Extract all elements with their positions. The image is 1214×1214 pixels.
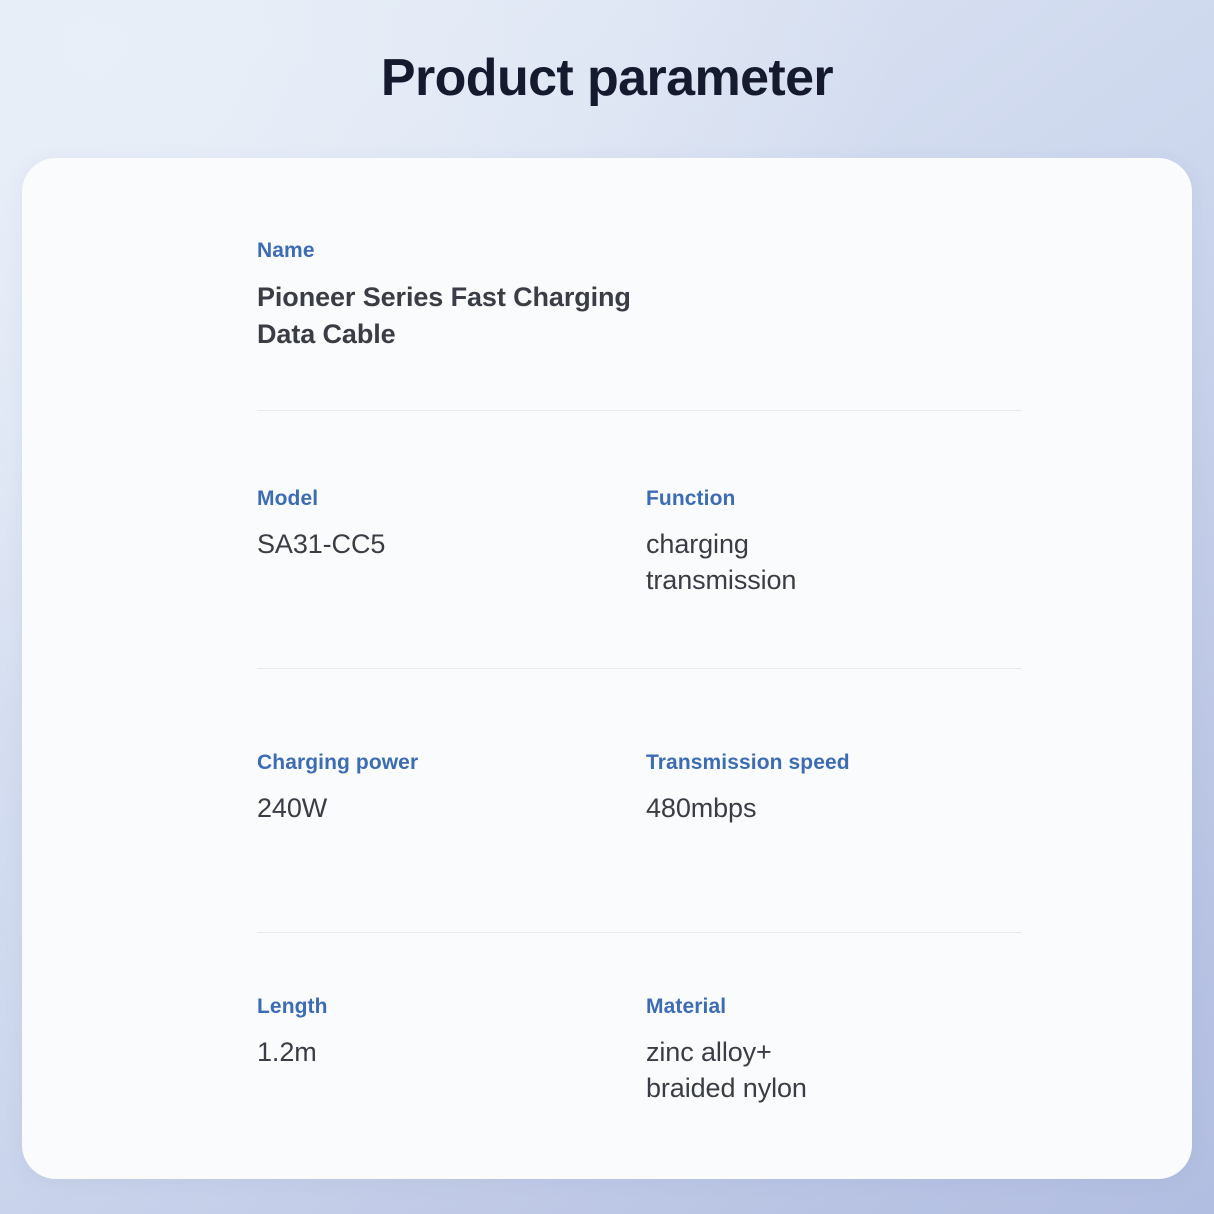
page-title: Product parameter bbox=[0, 48, 1214, 109]
spec-cell-length: Length 1.2m bbox=[257, 994, 646, 1107]
product-parameter-card: Name Pioneer Series Fast Charging Data C… bbox=[22, 158, 1192, 1179]
spec-divider bbox=[257, 668, 1021, 669]
spec-value: 480mbps bbox=[646, 791, 1035, 827]
spec-row: Model SA31-CC5 Function charging transmi… bbox=[257, 486, 1021, 599]
spec-label: Charging power bbox=[257, 750, 646, 775]
spec-label: Model bbox=[257, 486, 646, 511]
spec-table: Name Pioneer Series Fast Charging Data C… bbox=[257, 158, 1021, 1179]
spec-label: Material bbox=[646, 994, 1035, 1019]
spec-cell-charging-power: Charging power 240W bbox=[257, 750, 646, 827]
spec-value: 240W bbox=[257, 791, 646, 827]
spec-cell-material: Material zinc alloy+ braided nylon bbox=[646, 994, 1035, 1107]
spec-value: Pioneer Series Fast Charging Data Cable bbox=[257, 279, 1021, 352]
spec-value: charging transmission bbox=[646, 527, 1035, 599]
spec-cell-function: Function charging transmission bbox=[646, 486, 1035, 599]
spec-cell-name: Name Pioneer Series Fast Charging Data C… bbox=[257, 238, 1021, 352]
spec-divider bbox=[257, 932, 1021, 933]
spec-row: Length 1.2m Material zinc alloy+ braided… bbox=[257, 994, 1021, 1107]
spec-row: Charging power 240W Transmission speed 4… bbox=[257, 750, 1021, 827]
spec-label: Function bbox=[646, 486, 1035, 511]
spec-divider bbox=[257, 410, 1021, 411]
spec-cell-transmission-speed: Transmission speed 480mbps bbox=[646, 750, 1035, 827]
spec-value: 1.2m bbox=[257, 1035, 646, 1071]
spec-row: Name Pioneer Series Fast Charging Data C… bbox=[257, 238, 1021, 352]
spec-label: Length bbox=[257, 994, 646, 1019]
spec-value: zinc alloy+ braided nylon bbox=[646, 1035, 1035, 1107]
spec-label: Name bbox=[257, 238, 1021, 263]
spec-value: SA31-CC5 bbox=[257, 527, 646, 563]
spec-label: Transmission speed bbox=[646, 750, 1035, 775]
spec-cell-model: Model SA31-CC5 bbox=[257, 486, 646, 599]
